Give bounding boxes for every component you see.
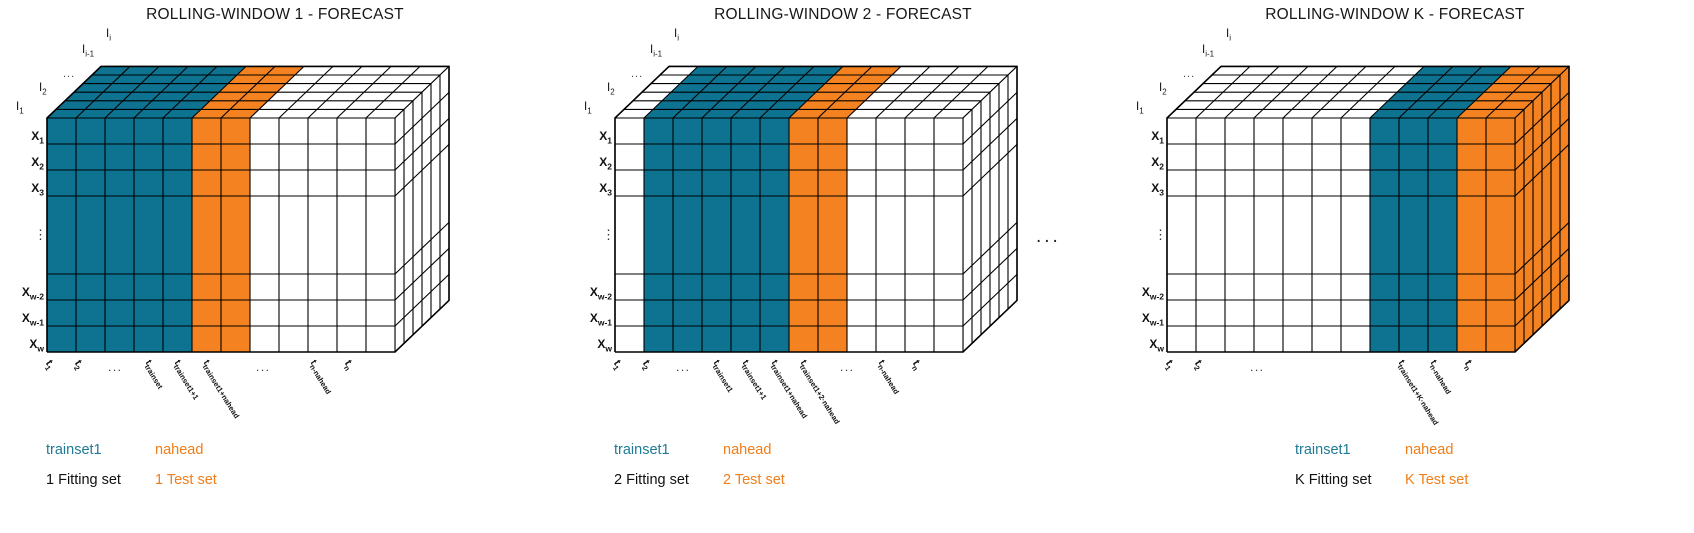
time-ellipsis-right: ...	[840, 360, 855, 374]
row-label-x2: X2	[568, 155, 612, 171]
depth-ellipsis: ...	[631, 68, 643, 80]
legend-test-set: 2 Test set	[723, 472, 785, 488]
row-ellipsis: ⋮	[602, 228, 615, 241]
depth-label-i-prev: Ii-1	[82, 44, 94, 58]
row-label-xw-2: Xw-2	[568, 285, 612, 301]
rolling-window-figure: ROLLING-WINDOW 1 - FORECAST I1 I2 ... Ii…	[0, 0, 1694, 533]
row-label-x1: X1	[1120, 129, 1164, 145]
depth-label-i1: I1	[16, 101, 24, 115]
row-label-x1: X1	[0, 129, 44, 145]
panel-rolling-window-k: ROLLING-WINDOW K - FORECAST I1 I2 ... Ii…	[1120, 0, 1670, 533]
row-label-xw-2: Xw-2	[1120, 285, 1164, 301]
row-label-xw-1: Xw-1	[568, 311, 612, 327]
legend-trainset-key: trainset1	[46, 442, 102, 458]
depth-label-i2: I2	[607, 82, 615, 96]
depth-label-i1: I1	[1136, 101, 1144, 115]
row-label-xw-1: Xw-1	[0, 311, 44, 327]
cube-diagram-k	[1120, 0, 1670, 420]
legend-trainset-key: trainset1	[614, 442, 670, 458]
legend-2: trainset1 nahead 2 Fitting set 2 Test se…	[568, 432, 1118, 502]
row-label-x2: X2	[1120, 155, 1164, 171]
row-label-x3: X3	[1120, 181, 1164, 197]
cube-diagram-2	[568, 0, 1118, 420]
legend-fitting-set: 2 Fitting set	[614, 472, 689, 488]
row-ellipsis: ⋮	[1154, 228, 1167, 241]
row-label-x1: X1	[568, 129, 612, 145]
depth-label-i-prev: Ii-1	[1202, 44, 1214, 58]
legend-test-set: 1 Test set	[155, 472, 217, 488]
time-ellipsis-right: ...	[256, 360, 271, 374]
depth-label-i-prev: Ii-1	[650, 44, 662, 58]
legend-test-set: K Test set	[1405, 472, 1468, 488]
cube-diagram-1	[0, 0, 550, 420]
row-label-xw-2: Xw-2	[0, 285, 44, 301]
depth-label-i2: I2	[39, 82, 47, 96]
row-label-xw: Xw	[568, 337, 612, 353]
legend-fitting-set: K Fitting set	[1295, 472, 1372, 488]
depth-label-i1: I1	[584, 101, 592, 115]
legend-nahead-key: nahead	[155, 442, 203, 458]
legend-fitting-set: 1 Fitting set	[46, 472, 121, 488]
time-ellipsis-left: ...	[1250, 360, 1265, 374]
legend-nahead-key: nahead	[723, 442, 771, 458]
time-ellipsis-left: ...	[108, 360, 123, 374]
row-label-xw: Xw	[1120, 337, 1164, 353]
depth-label-i2: I2	[1159, 82, 1167, 96]
row-ellipsis: ⋮	[34, 228, 47, 241]
row-label-x2: X2	[0, 155, 44, 171]
legend-1: trainset1 nahead 1 Fitting set 1 Test se…	[0, 432, 550, 502]
legend-nahead-key: nahead	[1405, 442, 1453, 458]
row-label-x3: X3	[0, 181, 44, 197]
panel-rolling-window-2: ROLLING-WINDOW 2 - FORECAST I1 I2 ... Ii…	[568, 0, 1118, 533]
panel-rolling-window-1: ROLLING-WINDOW 1 - FORECAST I1 I2 ... Ii…	[0, 0, 550, 533]
depth-label-ii: Ii	[674, 28, 679, 42]
time-ellipsis-left: ...	[676, 360, 691, 374]
row-label-xw: Xw	[0, 337, 44, 353]
legend-trainset-key: trainset1	[1295, 442, 1351, 458]
row-label-x3: X3	[568, 181, 612, 197]
row-label-xw-1: Xw-1	[1120, 311, 1164, 327]
legend-k: trainset1 nahead K Fitting set K Test se…	[1120, 432, 1670, 502]
depth-label-ii: Ii	[1226, 28, 1231, 42]
panel-gap-ellipsis: ...	[1036, 226, 1061, 248]
depth-label-ii: Ii	[106, 28, 111, 42]
depth-ellipsis: ...	[63, 68, 75, 80]
depth-ellipsis: ...	[1183, 68, 1195, 80]
